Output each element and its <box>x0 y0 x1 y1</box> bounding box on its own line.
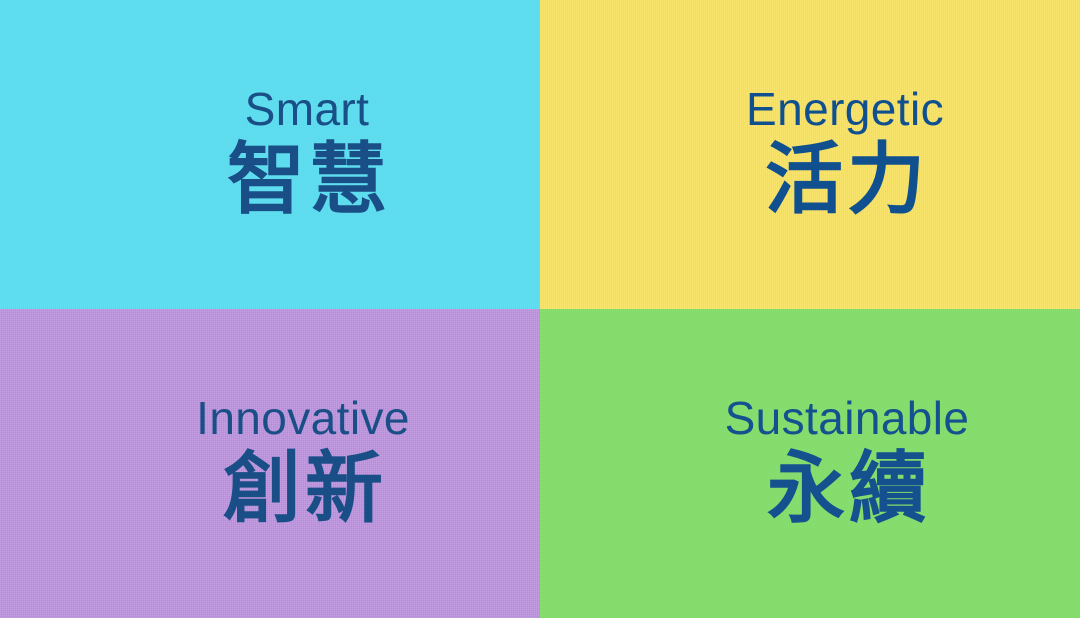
quadrant-energetic-text-block: Energetic 活力 <box>746 85 944 223</box>
quadrant-innovative-label-en: Innovative <box>196 394 410 443</box>
quadrant-energetic-label-zh: 活力 <box>746 136 944 223</box>
quadrant-smart-text-block: Smart 智慧 <box>223 85 391 223</box>
quadrant-energetic[interactable]: Energetic 活力 <box>540 0 1080 309</box>
quadrant-energetic-label-en: Energetic <box>746 85 944 134</box>
quadrant-innovative-text-block: Innovative 創新 <box>196 394 410 532</box>
quadrant-sustainable-label-en: Sustainable <box>725 394 970 443</box>
quadrant-innovative[interactable]: Innovative 創新 <box>0 309 540 618</box>
brand-values-quadrant-board: Smart 智慧 Energetic 活力 Innovative 創新 Sust… <box>0 0 1080 618</box>
quadrant-sustainable[interactable]: Sustainable 永續 <box>540 309 1080 618</box>
quadrant-smart[interactable]: Smart 智慧 <box>0 0 540 309</box>
quadrant-sustainable-label-zh: 永續 <box>725 445 970 532</box>
quadrant-sustainable-text-block: Sustainable 永續 <box>725 394 970 532</box>
quadrant-smart-label-zh: 智慧 <box>223 136 391 223</box>
quadrant-smart-label-en: Smart <box>223 85 391 134</box>
quadrant-innovative-label-zh: 創新 <box>196 445 410 532</box>
